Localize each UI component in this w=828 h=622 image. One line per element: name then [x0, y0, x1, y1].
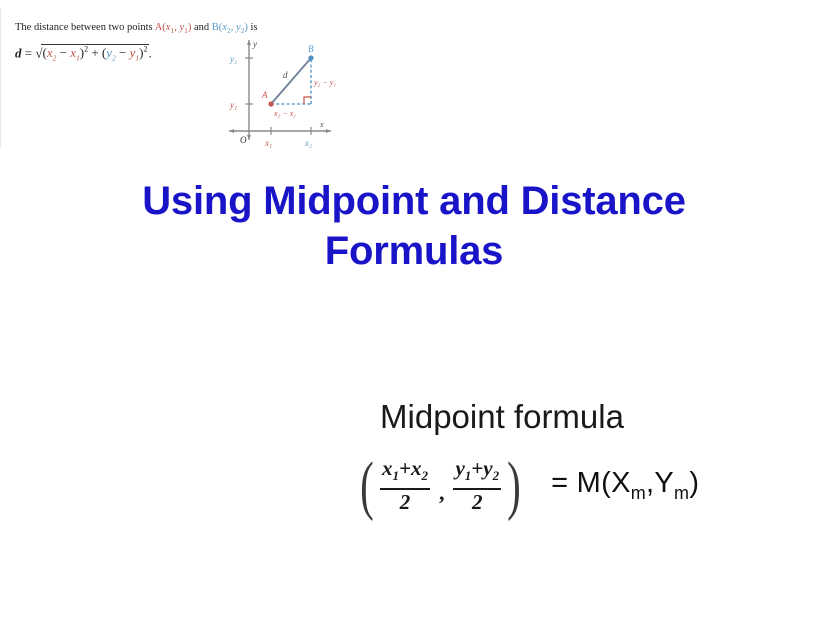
point-b-label: B — [308, 44, 314, 54]
page-title-line-2: Formulas — [60, 226, 768, 276]
result-x-subscript: m — [631, 483, 646, 503]
x1-tick-label: x₁ — [264, 138, 272, 148]
close-paren: ) — [507, 460, 521, 511]
x-axis-label: x — [319, 120, 324, 129]
textbook-image-region: The distance between two points A(x1, y1… — [0, 8, 421, 148]
point-a-marker — [268, 101, 273, 106]
result-equals-sign: = — [551, 467, 568, 499]
y2-tick-label: y₂ — [229, 54, 237, 64]
x-num-second: x — [411, 456, 422, 480]
x-num-plus: + — [399, 456, 411, 480]
x-axis-arrow-left — [229, 129, 234, 133]
x-axis-arrow — [326, 129, 331, 133]
midpoint-formula-heading: Midpoint formula — [148, 397, 828, 437]
point-a-label: A — [261, 90, 268, 100]
right-angle-marker — [304, 97, 311, 104]
formula-equals: = — [25, 45, 32, 60]
origin-label: O — [240, 135, 247, 145]
distance-formula-line: d = √(x2 − x1)2 + (y2 − y1)2. — [15, 45, 220, 63]
coordinate-plane-diagram: y x O y₂ y₁ x₁ x₂ A B d y₂ − y₁ x₂ − x₁ — [219, 28, 344, 148]
y-fraction-numerator: y1+y2 — [453, 457, 501, 487]
result-y-subscript: m — [674, 483, 689, 503]
point-b-marker — [308, 55, 313, 60]
distance-intro-mid: and — [191, 22, 211, 33]
horizontal-leg-label: x₂ − x₁ — [273, 109, 296, 118]
x-num-second-sub: 2 — [421, 468, 428, 483]
y-fraction-denominator: 2 — [472, 491, 483, 514]
distance-formula-text-block: The distance between two points A(x1, y1… — [15, 21, 220, 63]
page-title: Using Midpoint and Distance Formulas — [60, 176, 768, 276]
formula-lhs: d — [15, 45, 22, 60]
formula-comma: , — [439, 480, 445, 506]
y-num-second: y — [483, 456, 492, 480]
y-axis-label: y — [252, 39, 257, 49]
result-comma-y: ,Y — [646, 467, 674, 499]
x2-tick-label: x₂ — [304, 138, 312, 148]
y-midpoint-fraction: y1+y2 2 — [453, 457, 501, 514]
y-num-second-sub: 2 — [493, 468, 500, 483]
page-title-line-1: Using Midpoint and Distance — [60, 176, 768, 226]
x-fraction-numerator: x1+x2 — [380, 457, 430, 487]
result-close-paren: ) — [689, 467, 699, 499]
y-axis-arrow — [247, 40, 251, 45]
result-m-open: M(X — [577, 467, 631, 499]
radicand: (x2 − x1)2 + (y2 − y1)2 — [41, 44, 148, 60]
x-num-first: x — [382, 456, 393, 480]
open-paren: ( — [360, 460, 374, 511]
y-num-plus: + — [471, 456, 483, 480]
distance-intro-prefix: The distance between two points — [15, 22, 155, 33]
y-num-first: y — [455, 456, 464, 480]
x-midpoint-fraction: x1+x2 2 — [380, 457, 430, 514]
y-axis-arrow-down — [247, 135, 251, 140]
midpoint-formula-expression: ( x1+x2 2 , y1+y2 2 ) = M(Xm,Ym) — [356, 457, 699, 514]
point-a-inline: A(x1, y1) — [155, 22, 192, 33]
y1-tick-label: y₁ — [229, 100, 237, 110]
x-fraction-denominator: 2 — [400, 491, 411, 514]
midpoint-result: = M(Xm,Ym) — [551, 467, 699, 504]
vertical-leg-label: y₂ − y₁ — [313, 78, 336, 87]
distance-intro-line: The distance between two points A(x1, y1… — [15, 21, 220, 38]
hypotenuse-label: d — [283, 70, 288, 80]
